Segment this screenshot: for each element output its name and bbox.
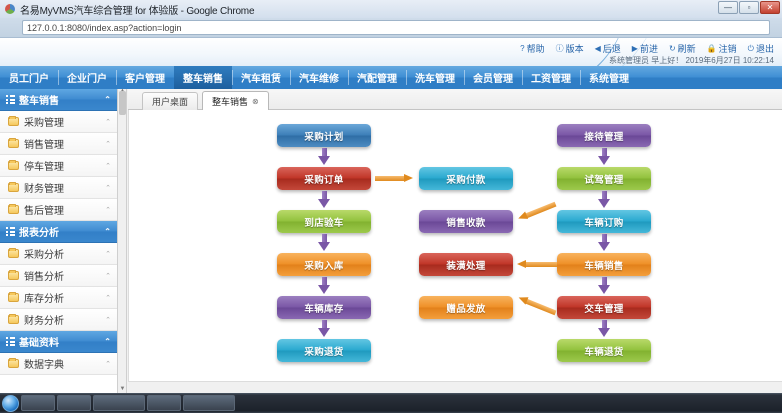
header-tool-后退[interactable]: ◀后退 [595, 42, 621, 55]
flow-node-采购订单[interactable]: 采购订单 [277, 167, 371, 190]
tab-整车销售[interactable]: 整车销售⊗ [202, 91, 269, 110]
header-tool-label: 前进 [640, 42, 658, 55]
flow-node-试驾管理[interactable]: 试驾管理 [557, 167, 651, 190]
sidebar-item-label: 销售分析 [24, 268, 105, 283]
folder-icon [8, 293, 19, 302]
arrow-head [598, 199, 610, 208]
chevron-up-icon[interactable]: ⌃ [105, 360, 111, 368]
flow-node-赠品发放[interactable]: 赠品发放 [419, 296, 513, 319]
sidebar-item-销售分析[interactable]: 销售分析⌃ [0, 265, 117, 287]
sidebar-item-label: 销售管理 [24, 136, 105, 151]
forward-icon: ▶ [632, 45, 638, 53]
nav-item-洗车管理[interactable]: 洗车管理 [406, 66, 464, 89]
chevron-up-icon[interactable]: ⌃ [105, 184, 111, 192]
flow-arrow-left-diag-lower [517, 294, 557, 317]
flow-node-销售收款[interactable]: 销售收款 [419, 210, 513, 233]
chevron-up-icon[interactable]: ⌃ [105, 294, 111, 302]
folder-icon [8, 117, 19, 126]
flow-arrow-left-middle [517, 260, 557, 269]
flow-arrow-down [598, 191, 611, 208]
nav-item-员工门户[interactable]: 员工门户 [0, 66, 58, 89]
nav-item-整车销售[interactable]: 整车销售 [174, 66, 232, 89]
chevron-up-icon[interactable]: ⌃ [104, 227, 111, 236]
flow-arrow-down [318, 148, 331, 165]
flow-arrow-down [598, 234, 611, 251]
flow-node-交车管理[interactable]: 交车管理 [557, 296, 651, 319]
nav-item-汽车租赁[interactable]: 汽车租赁 [232, 66, 290, 89]
sidebar-item-label: 财务分析 [24, 312, 105, 327]
flow-arrow-right-order-to-payment [375, 174, 413, 183]
application-viewport: ?帮助ⓘ版本◀后退▶前进↻刷新🔒注销⏻退出 系统管理员 早上好！ 2019年6月… [0, 38, 782, 393]
flow-arrow-left-diag-upper [517, 200, 557, 223]
header-tool-label: 退出 [756, 42, 774, 55]
flow-node-采购付款[interactable]: 采购付款 [419, 167, 513, 190]
arrow-head [318, 199, 330, 208]
header-toolbar: ?帮助ⓘ版本◀后退▶前进↻刷新🔒注销⏻退出 [520, 42, 774, 55]
taskbar-item[interactable] [183, 395, 235, 411]
flow-node-采购入库[interactable]: 采购入库 [277, 253, 371, 276]
header-tool-label: 注销 [719, 42, 737, 55]
user-status-text: 系统管理员 早上好！ 2019年6月27日 10:22:14 [609, 55, 774, 66]
nav-item-系统管理[interactable]: 系统管理 [580, 66, 638, 89]
header-tool-版本[interactable]: ⓘ版本 [556, 42, 584, 55]
arrow-shaft [525, 262, 557, 267]
browser-window: 名易MyVMS汽车综合管理 for 体验版 - Google Chrome — … [0, 0, 782, 413]
maximize-button[interactable]: ▫ [739, 1, 759, 14]
sidebar-group-label: 报表分析 [19, 224, 104, 239]
chevron-up-icon[interactable]: ⌃ [105, 206, 111, 214]
sidebar-item-数据字典[interactable]: 数据字典⌃ [0, 353, 117, 375]
flow-node-接待管理[interactable]: 接待管理 [557, 124, 651, 147]
sidebar-group-基础资料[interactable]: 基础资料⌃ [0, 331, 117, 353]
windows-taskbar [0, 393, 782, 413]
app-header: ?帮助ⓘ版本◀后退▶前进↻刷新🔒注销⏻退出 系统管理员 早上好！ 2019年6月… [0, 38, 782, 66]
folder-icon [8, 315, 19, 324]
flow-canvas: 采购计划采购订单到店验车采购入库车辆库存采购退货采购付款销售收款装潢处理赠品发放… [128, 110, 782, 381]
flow-diagram: 采购计划采购订单到店验车采购入库车辆库存采购退货采购付款销售收款装潢处理赠品发放… [129, 110, 782, 381]
flow-arrow-down [598, 277, 611, 294]
flow-node-采购退货[interactable]: 采购退货 [277, 339, 371, 362]
flow-node-车辆退货[interactable]: 车辆退货 [557, 339, 651, 362]
sidebar-item-财务管理[interactable]: 财务管理⌃ [0, 177, 117, 199]
flow-arrow-down [318, 277, 331, 294]
lock-icon: 🔒 [707, 45, 717, 53]
flow-arrow-down [598, 148, 611, 165]
flow-node-采购计划[interactable]: 采购计划 [277, 124, 371, 147]
power-icon: ⏻ [748, 45, 754, 53]
header-tool-label: 版本 [566, 42, 584, 55]
flow-arrow-down [598, 320, 611, 337]
chevron-up-icon[interactable]: ⌃ [104, 95, 111, 104]
arrow-head [318, 242, 330, 251]
sidebar-item-label: 采购管理 [24, 114, 105, 129]
taskbar-item[interactable] [57, 395, 91, 411]
sidebar-item-采购分析[interactable]: 采购分析⌃ [0, 243, 117, 265]
sidebar-group-整车销售[interactable]: 整车销售⌃ [0, 89, 117, 111]
tab-strip: 用户桌面整车销售⊗ [128, 89, 782, 110]
flow-node-到店验车[interactable]: 到店验车 [277, 210, 371, 233]
sidebar-item-label: 采购分析 [24, 246, 105, 261]
flow-node-车辆销售[interactable]: 车辆销售 [557, 253, 651, 276]
sidebar-scroll-thumb[interactable] [119, 91, 126, 115]
header-tool-label: 刷新 [678, 42, 696, 55]
browser-title: 名易MyVMS汽车综合管理 for 体验版 - Google Chrome [20, 2, 254, 17]
header-tool-注销[interactable]: 🔒注销 [707, 42, 737, 55]
list-icon [6, 95, 15, 104]
list-icon [6, 227, 15, 236]
arrow-head [517, 260, 526, 268]
main-nav: 员工门户企业门户客户管理整车销售汽车租赁汽车维修汽配管理洗车管理会员管理工资管理… [0, 66, 782, 89]
sidebar-item-停车管理[interactable]: 停车管理⌃ [0, 155, 117, 177]
taskbar-item[interactable] [93, 395, 145, 411]
content-area: 用户桌面整车销售⊗ 采购计划采购订单到店验车采购入库车辆库存采购退货采购付款销售… [128, 89, 782, 393]
sidebar-item-财务分析[interactable]: 财务分析⌃ [0, 309, 117, 331]
sidebar-item-label: 库存分析 [24, 290, 105, 305]
canvas-horizontal-scrollbar[interactable] [128, 381, 782, 393]
tab-用户桌面[interactable]: 用户桌面 [142, 92, 198, 110]
header-tool-刷新[interactable]: ↻刷新 [669, 42, 696, 55]
tab-close-icon[interactable]: ⊗ [252, 97, 259, 106]
header-tool-label: 后退 [603, 42, 621, 55]
nav-item-企业门户[interactable]: 企业门户 [58, 66, 116, 89]
flow-node-装潢处理[interactable]: 装潢处理 [419, 253, 513, 276]
sidebar-item-label: 数据字典 [24, 356, 105, 371]
chevron-up-icon[interactable]: ⌃ [104, 337, 111, 346]
browser-address-bar: 127.0.0.1:8080/index.asp?action=login [0, 18, 782, 38]
folder-icon [8, 205, 19, 214]
arrow-head [318, 328, 330, 337]
info-icon: ⓘ [556, 45, 564, 53]
nav-item-汽车维修[interactable]: 汽车维修 [290, 66, 348, 89]
chevron-up-icon[interactable]: ⌃ [105, 316, 111, 324]
chevron-up-icon[interactable]: ⌃ [105, 272, 111, 280]
arrow-head [318, 285, 330, 294]
folder-icon [8, 271, 19, 280]
flow-node-车辆库存[interactable]: 车辆库存 [277, 296, 371, 319]
nav-item-会员管理[interactable]: 会员管理 [464, 66, 522, 89]
arrow-head [598, 328, 610, 337]
sidebar-group-label: 整车销售 [19, 92, 104, 107]
minimize-button[interactable]: — [718, 1, 738, 14]
chevron-up-icon[interactable]: ⌃ [105, 250, 111, 258]
question-icon: ? [520, 45, 524, 53]
flow-node-车辆订购[interactable]: 车辆订购 [557, 210, 651, 233]
header-tool-退出[interactable]: ⏻退出 [748, 42, 774, 55]
arrow-head [318, 156, 330, 165]
sidebar-group-报表分析[interactable]: 报表分析⌃ [0, 221, 117, 243]
taskbar-item[interactable] [147, 395, 181, 411]
list-icon [6, 337, 15, 346]
arrow-shaft [525, 202, 557, 219]
folder-icon [8, 161, 19, 170]
flow-arrow-down [318, 234, 331, 251]
sidebar-item-label: 财务管理 [24, 180, 105, 195]
sidebar-item-售后管理[interactable]: 售后管理⌃ [0, 199, 117, 221]
scroll-down-icon[interactable]: ▼ [119, 386, 126, 393]
arrow-head [598, 285, 610, 294]
sidebar-scrollbar[interactable]: ▲ ▼ [118, 89, 127, 393]
header-tool-帮助[interactable]: ?帮助 [520, 42, 544, 55]
tab-label: 整车销售 [212, 95, 248, 108]
chrome-icon [4, 3, 16, 15]
refresh-icon: ↻ [669, 45, 676, 53]
address-input[interactable]: 127.0.0.1:8080/index.asp?action=login [22, 20, 770, 35]
sidebar-item-label: 售后管理 [24, 202, 105, 217]
arrow-shaft [375, 176, 405, 181]
nav-item-工资管理[interactable]: 工资管理 [522, 66, 580, 89]
arrow-head [598, 242, 610, 251]
flow-arrow-down [318, 320, 331, 337]
sidebar-item-label: 停车管理 [24, 158, 105, 173]
arrow-shaft [525, 299, 557, 316]
sidebar-item-采购管理[interactable]: 采购管理⌃ [0, 111, 117, 133]
chevron-up-icon[interactable]: ⌃ [105, 162, 111, 170]
folder-icon [8, 359, 19, 368]
folder-icon [8, 183, 19, 192]
header-tool-前进[interactable]: ▶前进 [632, 42, 658, 55]
chevron-up-icon[interactable]: ⌃ [105, 140, 111, 148]
window-controls: — ▫ ✕ [718, 1, 780, 14]
nav-item-汽配管理[interactable]: 汽配管理 [348, 66, 406, 89]
folder-icon [8, 249, 19, 258]
flow-arrow-down [318, 191, 331, 208]
close-button[interactable]: ✕ [760, 1, 780, 14]
body-area: 整车销售⌃采购管理⌃销售管理⌃停车管理⌃财务管理⌃售后管理⌃报表分析⌃采购分析⌃… [0, 89, 782, 393]
sidebar-group-label: 基础资料 [19, 334, 104, 349]
folder-icon [8, 139, 19, 148]
back-icon: ◀ [595, 45, 601, 53]
sidebar: 整车销售⌃采购管理⌃销售管理⌃停车管理⌃财务管理⌃售后管理⌃报表分析⌃采购分析⌃… [0, 89, 118, 393]
browser-title-bar: 名易MyVMS汽车综合管理 for 体验版 - Google Chrome — … [0, 0, 782, 18]
arrow-head [404, 174, 413, 182]
start-button[interactable] [2, 395, 19, 412]
taskbar-item[interactable] [21, 395, 55, 411]
sidebar-item-库存分析[interactable]: 库存分析⌃ [0, 287, 117, 309]
header-tool-label: 帮助 [527, 42, 545, 55]
chevron-up-icon[interactable]: ⌃ [105, 118, 111, 126]
nav-item-客户管理[interactable]: 客户管理 [116, 66, 174, 89]
arrow-head [598, 156, 610, 165]
sidebar-item-销售管理[interactable]: 销售管理⌃ [0, 133, 117, 155]
tab-label: 用户桌面 [152, 95, 188, 108]
